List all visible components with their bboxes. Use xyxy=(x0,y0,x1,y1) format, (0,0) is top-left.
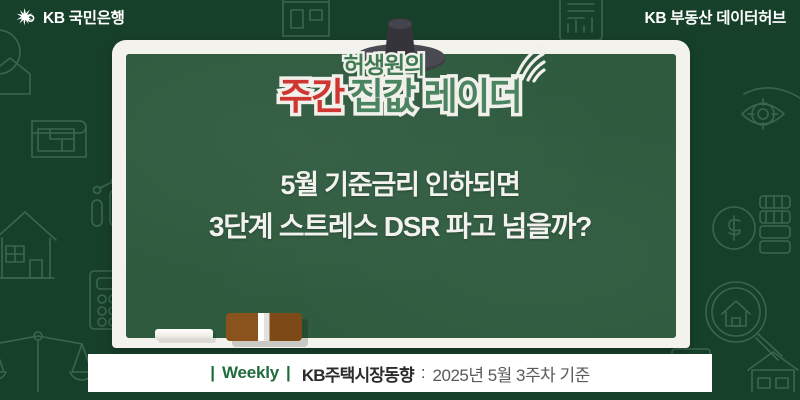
headline-line-2: 3단계 스트레스 DSR 파고 넘을까? xyxy=(126,206,674,249)
title-subtitle: 허생원의 xyxy=(344,54,425,77)
chalk-eraser xyxy=(226,313,302,341)
hub-title: KB 부동산 데이터허브 xyxy=(645,6,786,28)
kb-logo[interactable]: KB 국민은행 xyxy=(14,6,125,28)
footer-weekly-label: Weekly xyxy=(222,363,279,383)
footer-caption-bar: | Weekly | KB주택시장동향 : 2025년 5월 3주차 기준 xyxy=(88,354,712,392)
title-lockup: 허생원의 주간 집값 레이더 xyxy=(0,54,800,115)
top-header: KB 국민은행 KB 부동산 데이터허브 xyxy=(0,0,800,34)
headline-line-1: 5월 기준금리 인하되면 xyxy=(126,165,674,206)
chalk-stick xyxy=(155,329,213,340)
poster-card: KB 국민은행 KB 부동산 데이터허브 허생원의 주간 집값 레이더 xyxy=(0,0,800,400)
footer-pipe-right: | xyxy=(286,363,291,383)
kb-star-icon xyxy=(14,6,36,28)
footer-report-name: KB주택시장동향 xyxy=(302,361,414,386)
scales-icon xyxy=(0,330,96,400)
kb-logo-text: KB 국민은행 xyxy=(43,6,125,28)
footer-period: 2025년 5월 3주차 기준 xyxy=(433,361,590,386)
blueprint-icon xyxy=(28,115,90,161)
title-accent-word: 주간 xyxy=(279,78,344,115)
radar-wave-icon xyxy=(512,40,552,84)
footer-pipe-left: | xyxy=(210,363,215,383)
footer-base-strip xyxy=(0,392,800,400)
footer-colon: : xyxy=(421,363,426,383)
title-rest-word: 집값 레이더 xyxy=(350,78,521,115)
coin-stack-icon xyxy=(710,190,792,262)
house-magnifier-icon xyxy=(700,278,790,364)
house-outline-icon xyxy=(0,200,76,288)
title-main-row: 주간 집값 레이더 xyxy=(0,78,800,115)
headline-block: 5월 기준금리 인하되면 3단계 스트레스 DSR 파고 넘을까? xyxy=(126,165,674,249)
